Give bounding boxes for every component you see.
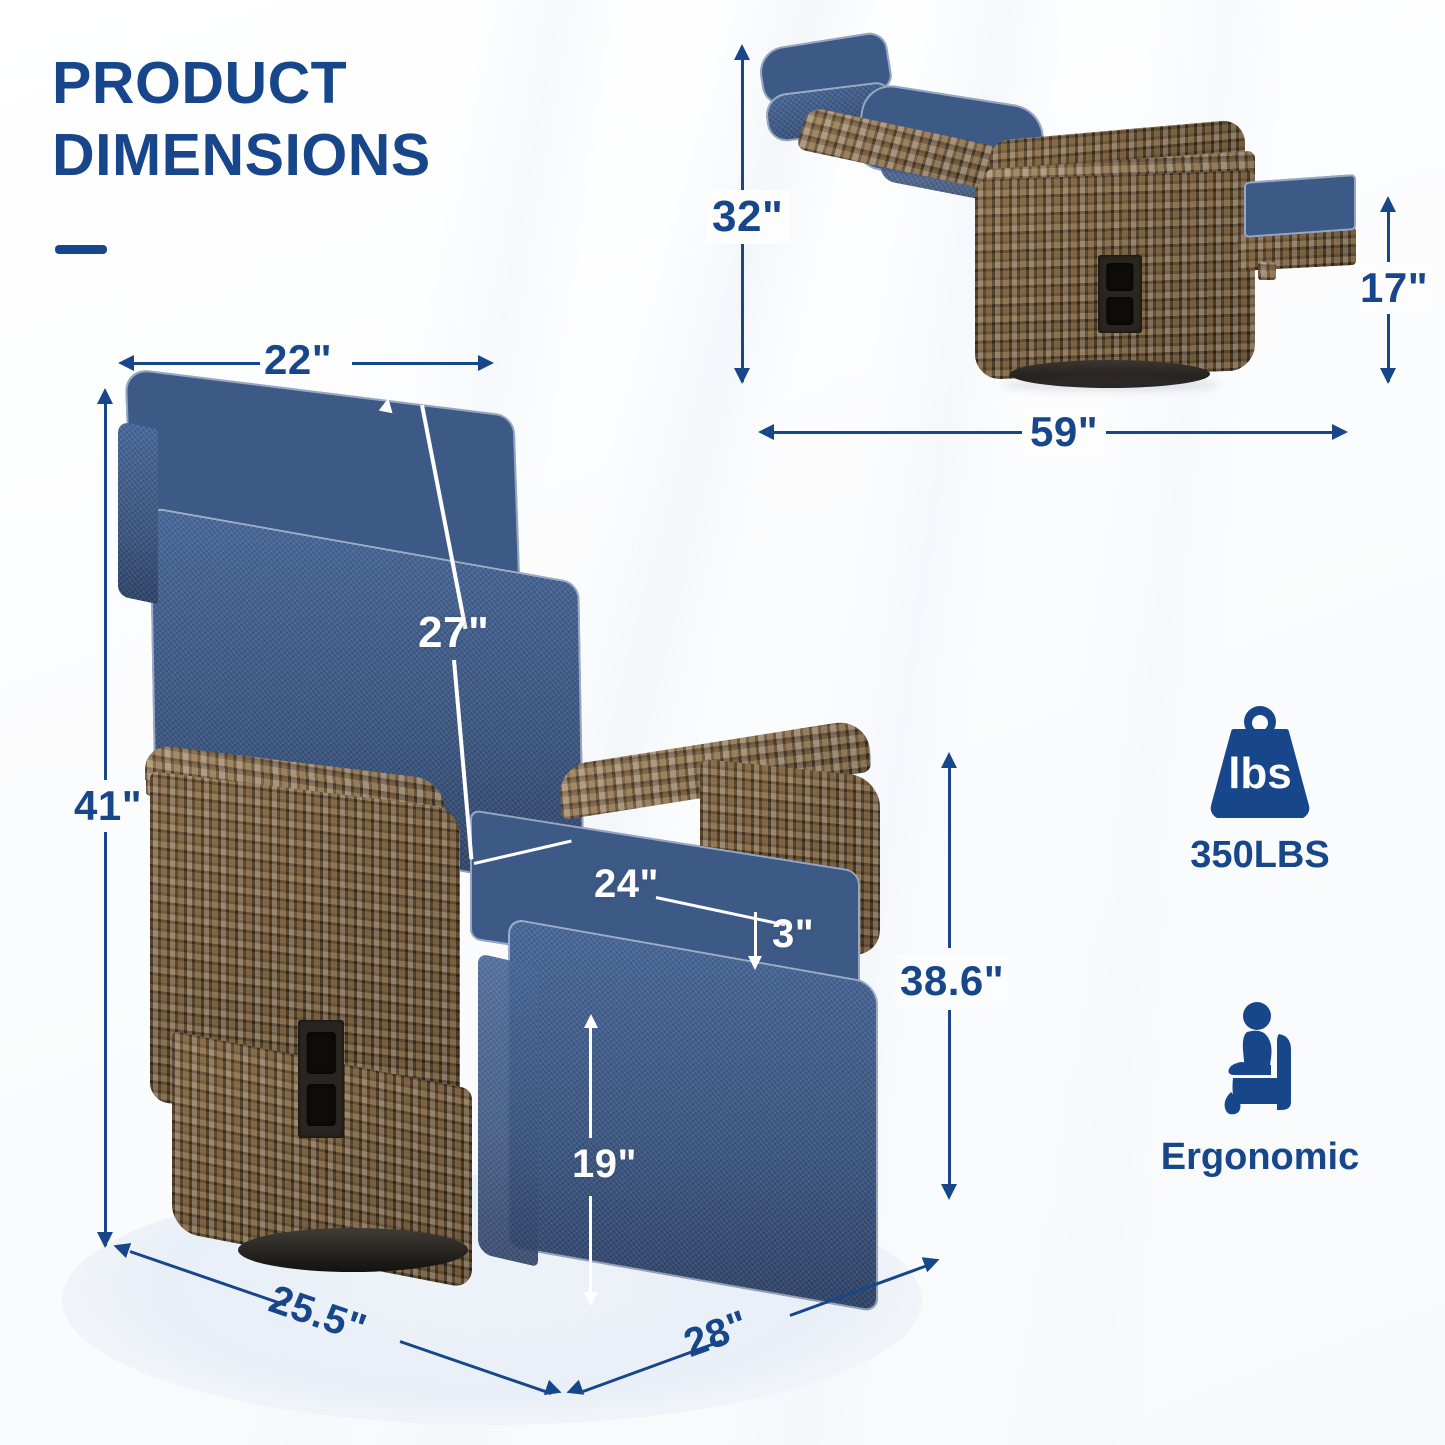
- seated-person-icon: [1110, 1000, 1410, 1120]
- reclined-power-outlet[interactable]: [1098, 255, 1142, 333]
- arrow-59-right: [1332, 424, 1348, 440]
- upright-footrest-side: [478, 953, 538, 1267]
- infographic-canvas: PRODUCT DIMENSIONS 32" 17": [0, 0, 1445, 1445]
- line-3: [754, 912, 757, 960]
- arrow-386-down: [941, 1184, 957, 1200]
- reclined-base-shadow: [1000, 378, 1220, 392]
- arrow-22-right: [478, 355, 494, 371]
- weight-lbs-icon: lbs: [1110, 700, 1410, 818]
- arrow-41-down: [97, 1232, 113, 1248]
- title-line-2: DIMENSIONS: [52, 119, 431, 191]
- dim-label-22: 22": [264, 336, 332, 384]
- arrow-3-down: [748, 956, 762, 970]
- dim-label-27: 27": [418, 608, 489, 658]
- feature-weight-capacity: lbs 350LBS: [1110, 700, 1410, 877]
- page-title: PRODUCT DIMENSIONS: [52, 47, 431, 191]
- upright-footrest-cushion: [508, 917, 878, 1312]
- dim-label-3: 3": [772, 912, 814, 957]
- line-386-upper: [948, 766, 951, 948]
- arrow-19-up: [584, 1014, 598, 1028]
- title-underline-rule: [55, 245, 107, 254]
- weight-capacity-caption: 350LBS: [1110, 834, 1410, 877]
- upright-power-outlet[interactable]: [298, 1020, 344, 1138]
- dim-label-32: 32": [706, 190, 789, 244]
- title-line-1: PRODUCT: [52, 50, 347, 116]
- weight-icon-text: lbs: [1228, 749, 1292, 798]
- line-19-lower: [589, 1196, 592, 1298]
- reclined-footrest-bracket: [1258, 262, 1276, 280]
- upright-back-wing-left: [118, 421, 158, 605]
- feature-ergonomic: Ergonomic: [1110, 1000, 1410, 1179]
- line-386-lower: [948, 1010, 951, 1188]
- ergonomic-caption: Ergonomic: [1110, 1136, 1410, 1179]
- dim-label-19: 19": [572, 1142, 637, 1187]
- line-22-left: [132, 362, 260, 365]
- line-22-right: [352, 362, 482, 365]
- dim-label-59: 59": [1022, 406, 1106, 458]
- dim-label-41: 41": [70, 780, 146, 832]
- arrow-19-down: [584, 1292, 598, 1306]
- arrow-32-down: [734, 368, 750, 384]
- dim-label-386: 38.6": [896, 955, 1008, 1007]
- reclined-footrest-cushion: [1244, 174, 1356, 238]
- upright-swivel-base: [238, 1228, 468, 1272]
- arrow-27-up: [379, 397, 395, 413]
- arrow-17-down: [1380, 368, 1396, 384]
- line-19-upper: [589, 1028, 592, 1138]
- dim-label-17: 17": [1356, 262, 1432, 314]
- dim-label-24: 24": [594, 862, 659, 907]
- arrow-28-right: [922, 1252, 943, 1273]
